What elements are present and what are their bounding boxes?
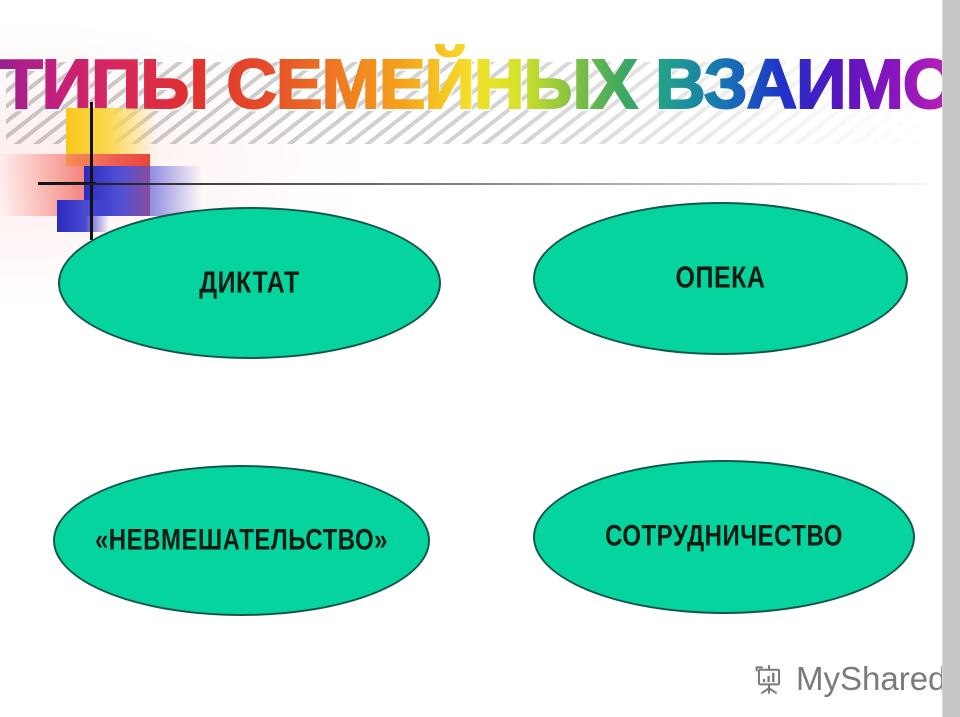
decorative-corner-graphic [0, 108, 190, 226]
ellipse-sotrudnichestvo[interactable]: СОТРУДНИЧЕСТВО [533, 460, 915, 614]
ellipse-label-diktat: ДИКТАТ [199, 265, 299, 300]
ellipse-opeka[interactable]: ОПЕКА [533, 202, 908, 355]
ellipse-nevmeshatelstvo[interactable]: «НЕВМЕШАТЕЛЬСТВО» [53, 465, 430, 616]
ellipse-label-sotrudnichestvo: СОТРУДНИЧЕСТВО [605, 520, 843, 554]
title-divider-rule [38, 183, 928, 185]
ellipse-label-opeka: ОПЕКА [676, 261, 766, 296]
myshared-watermark: MyShared [752, 655, 942, 703]
page-gutter [942, 0, 960, 717]
ellipse-label-nevmeshatelstvo: «НЕВМЕШАТЕЛЬСТВО» [95, 523, 388, 557]
presentation-chart-icon [752, 662, 786, 696]
watermark-label: MyShared [796, 662, 942, 696]
slide-canvas: ТИПЫ СЕМЕЙНЫХ ВЗАИМООТНОШЕНИЙ ДИКТАТ ОПЕ… [0, 0, 942, 717]
deco-blue-square [57, 200, 109, 232]
ellipse-diktat[interactable]: ДИКТАТ [58, 207, 441, 359]
deco-vertical-line [90, 102, 93, 240]
